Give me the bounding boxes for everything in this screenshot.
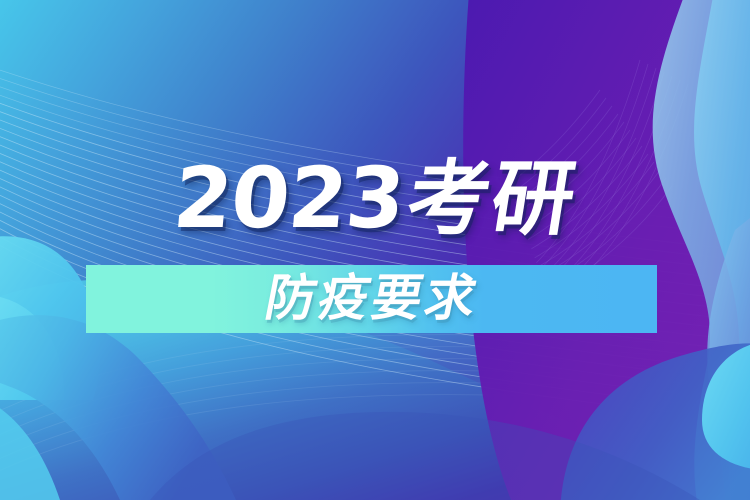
text-layer: 2023考研 防疫要求 bbox=[0, 0, 750, 500]
subtitle-label: 防疫要求 bbox=[260, 273, 482, 326]
title-subject: 考研 bbox=[401, 159, 582, 241]
title-year: 2023 bbox=[170, 156, 407, 240]
banner-poster: 2023考研 防疫要求 bbox=[0, 0, 750, 500]
page-title: 2023考研 bbox=[0, 156, 750, 241]
subtitle-text-wrapper: 防疫要求 bbox=[86, 265, 657, 333]
